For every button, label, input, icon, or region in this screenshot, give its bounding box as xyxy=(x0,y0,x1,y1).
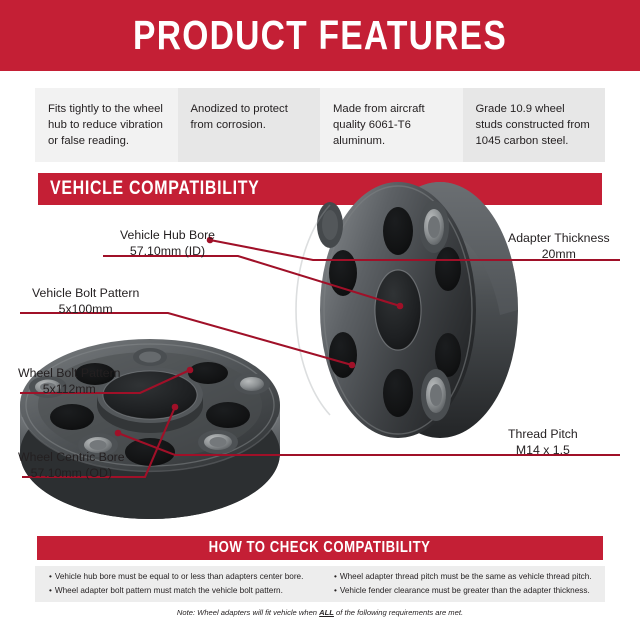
list-item: •Wheel adapter thread pitch must be the … xyxy=(334,571,605,582)
list-item: •Vehicle hub bore must be equal to or le… xyxy=(49,571,320,582)
feature-box-1: Fits tightly to the wheel hub to reduce … xyxy=(35,88,178,162)
how-to-check-bar: HOW TO CHECK COMPATIBILITY xyxy=(35,534,605,562)
bullet-icon: • xyxy=(49,572,52,581)
compatibility-checklist: •Vehicle hub bore must be equal to or le… xyxy=(35,566,605,602)
callout-wheel-centric-bore: Wheel Centric Bore 57.10mm (OD) xyxy=(18,449,125,482)
bullet-icon: • xyxy=(49,586,52,595)
rear-adapter xyxy=(296,182,518,438)
how-to-check-title: HOW TO CHECK COMPATIBILITY xyxy=(209,539,431,557)
callout-thread-pitch: Thread Pitch M14 x 1.5 xyxy=(508,426,578,459)
feature-box-4: Grade 10.9 wheel studs constructed from … xyxy=(463,88,606,162)
callout-vehicle-bolt-pattern: Vehicle Bolt Pattern 5x100mm xyxy=(32,285,139,318)
bullet-icon: • xyxy=(334,586,337,595)
feature-box-2: Anodized to protect from corrosion. xyxy=(178,88,321,162)
list-item: •Wheel adapter bolt pattern must match t… xyxy=(49,585,320,596)
checklist-column-right: •Wheel adapter thread pitch must be the … xyxy=(320,571,605,602)
callout-wheel-bolt-pattern: Wheel Bolt Pattern 5x112mm xyxy=(18,365,121,398)
page-title: PRODUCT FEATURES xyxy=(133,15,507,56)
feature-box-3: Made from aircraft quality 6061-T6 alumi… xyxy=(320,88,463,162)
callout-vehicle-hub-bore: Vehicle Hub Bore 57.10mm (ID) xyxy=(120,227,215,260)
header-banner: PRODUCT FEATURES xyxy=(0,0,640,71)
checklist-column-left: •Vehicle hub bore must be equal to or le… xyxy=(35,571,320,602)
footer-note: Note: Wheel adapters will fit vehicle wh… xyxy=(0,608,640,617)
bullet-icon: • xyxy=(334,572,337,581)
callout-adapter-thickness: Adapter Thickness 20mm xyxy=(508,230,610,263)
list-item: •Vehicle fender clearance must be greate… xyxy=(334,585,605,596)
product-features-infographic: PRODUCT FEATURES Fits tightly to the whe… xyxy=(0,0,640,640)
wheel-adapter-diagram: Vehicle Hub Bore 57.10mm (ID) Vehicle Bo… xyxy=(0,165,640,530)
feature-boxes: Fits tightly to the wheel hub to reduce … xyxy=(35,88,605,162)
footer-note-emphasis: ALL xyxy=(319,608,334,617)
